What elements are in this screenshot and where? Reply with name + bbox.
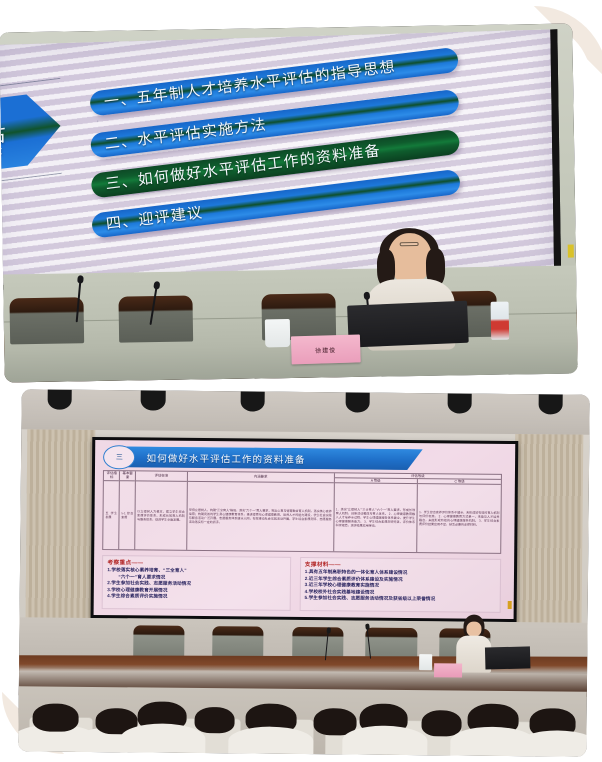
tea-cup — [265, 318, 291, 346]
ceiling-downlight — [538, 394, 563, 414]
glasses-icon — [400, 242, 419, 246]
table-cell-indicator: 五 学生发展 — [104, 481, 120, 549]
audience-area — [18, 686, 587, 757]
table-cell-requirement: 坚持立德树人，构建“三全育人”格局，落实“六个一”育人要求，突出心育与德育融合育… — [187, 482, 334, 552]
screenshot-page: 评估 Content 一、五年制人才培养水平评估的指导思想 二、水平评估实施方法… — [0, 0, 602, 762]
table-header-grade-c: C 等级 — [418, 479, 501, 484]
podium-chair — [9, 297, 84, 344]
table-cell-grade-c: 1．学生综合素养评价体系不健全，未形成较有效的育人机制与评价标准。 2．心理健康… — [417, 484, 501, 553]
slide-section-badge: 三 — [103, 445, 135, 470]
audience-head — [33, 703, 79, 732]
audience-shoulders — [342, 726, 427, 757]
screen-frame-sticker — [568, 244, 574, 257]
table-col-standard: 评估标准 以立德树人为根本，建立学生综合素质评价体系，形成长效育人机制与服务体系… — [135, 471, 187, 550]
table-cell-grade-a: 1．落实“立德树人”“三全育人”“六个一”育人要求，形成长效育人机制，创新活动载… — [334, 483, 418, 552]
evaluation-table: 评估指标 五 学生发展 基本要素 5-1 综合素质 评估标准 以立德树人为根本，… — [103, 470, 503, 554]
podium-chair — [118, 296, 193, 343]
note-left-line: 4.学生综合素质评价实施情况 — [107, 593, 286, 601]
audience-row — [18, 686, 587, 757]
note-block-focus-points: 考察重点—— 1.学校落实核心素养培育、“三全育人” “六个一”育人要求情况 2… — [102, 555, 292, 611]
slide-content-badge: 评估 Content — [0, 73, 99, 187]
table-col-requirement: 内涵要求 坚持立德树人，构建“三全育人”格局，落实“六个一”育人要求，突出心育与… — [187, 472, 335, 552]
agenda-item-4-label: 四、迎评建议 — [92, 205, 205, 234]
speaker-name-label: 徐建俊 — [315, 345, 336, 355]
table-header-standard: 评估标准 — [136, 471, 187, 482]
table-col-grade: 评估等级 A 等级 C 等级 1．落实“立德树人”“三全育人”“六个一”育人要求… — [334, 473, 501, 553]
photo-lecture-speaker: 评估 Content 一、五年制人才培养水平评估的指导思想 二、水平评估实施方法… — [0, 24, 578, 383]
ceiling-downlight — [240, 391, 265, 411]
slide-surface: 三 如何做好水平评估工作的资料准备 评估指标 五 学生发展 基本要素 5-1 综… — [94, 440, 516, 619]
laptop — [347, 300, 469, 347]
note-right-line: 5.学生参加社会实践、志愿服务活动情况及获省级以上荣誉情况 — [305, 595, 497, 603]
speaker-name-card — [434, 663, 463, 678]
table-cell-standard: 以立德树人为根本，建立学生综合素质评价体系，形成长效育人机制与服务体系，促进学生… — [135, 481, 186, 550]
table-header-indicator: 评估指标 — [104, 471, 119, 481]
projection-screen-agenda: 评估 Content 一、五年制人才培养水平评估的指导思想 二、水平评估实施方法… — [0, 29, 562, 290]
audience-shoulders — [518, 730, 587, 757]
podium-chair — [212, 626, 263, 659]
slide-title-area: 三 如何做好水平评估工作的资料准备 — [103, 446, 422, 470]
screen-corner-sticker — [508, 601, 512, 609]
agenda-item-2-label: 二、水平评估实施方法 — [91, 117, 269, 153]
slide-section-number: 三 — [116, 452, 123, 462]
water-bottle — [491, 301, 510, 340]
projection-screen-table: 三 如何做好水平评估工作的资料准备 评估指标 五 学生发展 基本要素 5-1 综… — [91, 437, 519, 622]
ceiling-downlight — [345, 392, 370, 412]
tea-cup — [420, 654, 433, 670]
podium-chair — [133, 626, 184, 659]
audience-shoulders — [228, 726, 313, 755]
table-header-element: 基本要素 — [120, 471, 135, 481]
note-block-support-materials: 支撑材料—— 1.具有五年制高职特色的一体化育人体系建设情况 2.近三年学生综合… — [299, 557, 501, 613]
note-left-heading: 考察重点—— — [107, 558, 286, 568]
table-col-indicator: 评估指标 五 学生发展 — [104, 471, 121, 550]
table-header-grade-a: A 等级 — [334, 478, 417, 483]
audience-shoulders — [120, 724, 205, 755]
photo-bottom-inner: 三 如何做好水平评估工作的资料准备 评估指标 五 学生发展 基本要素 5-1 综… — [18, 389, 589, 756]
table-grade-body: 1．落实“立德树人”“三全育人”“六个一”育人要求，形成长效育人机制，创新活动载… — [334, 483, 501, 553]
table-cell-element: 5-1 综合素质 — [119, 481, 135, 549]
note-right-heading: 支撑材料—— — [305, 560, 497, 570]
slide-title-text: 如何做好水平评估工作的资料准备 — [147, 450, 306, 466]
speaker-name-card: 徐建俊 — [290, 334, 360, 364]
table-col-element: 基本要素 5-1 综合素质 — [119, 471, 136, 550]
ceiling-downlight — [47, 390, 72, 410]
photo-hall-wide-shot: 三 如何做好水平评估工作的资料准备 评估指标 五 学生发展 基本要素 5-1 综… — [18, 389, 589, 756]
photo-top-inner: 评估 Content 一、五年制人才培养水平评估的指导思想 二、水平评估实施方法… — [0, 24, 578, 383]
audience-head — [195, 707, 235, 733]
ceiling-downlight — [141, 390, 166, 410]
laptop — [485, 647, 531, 670]
